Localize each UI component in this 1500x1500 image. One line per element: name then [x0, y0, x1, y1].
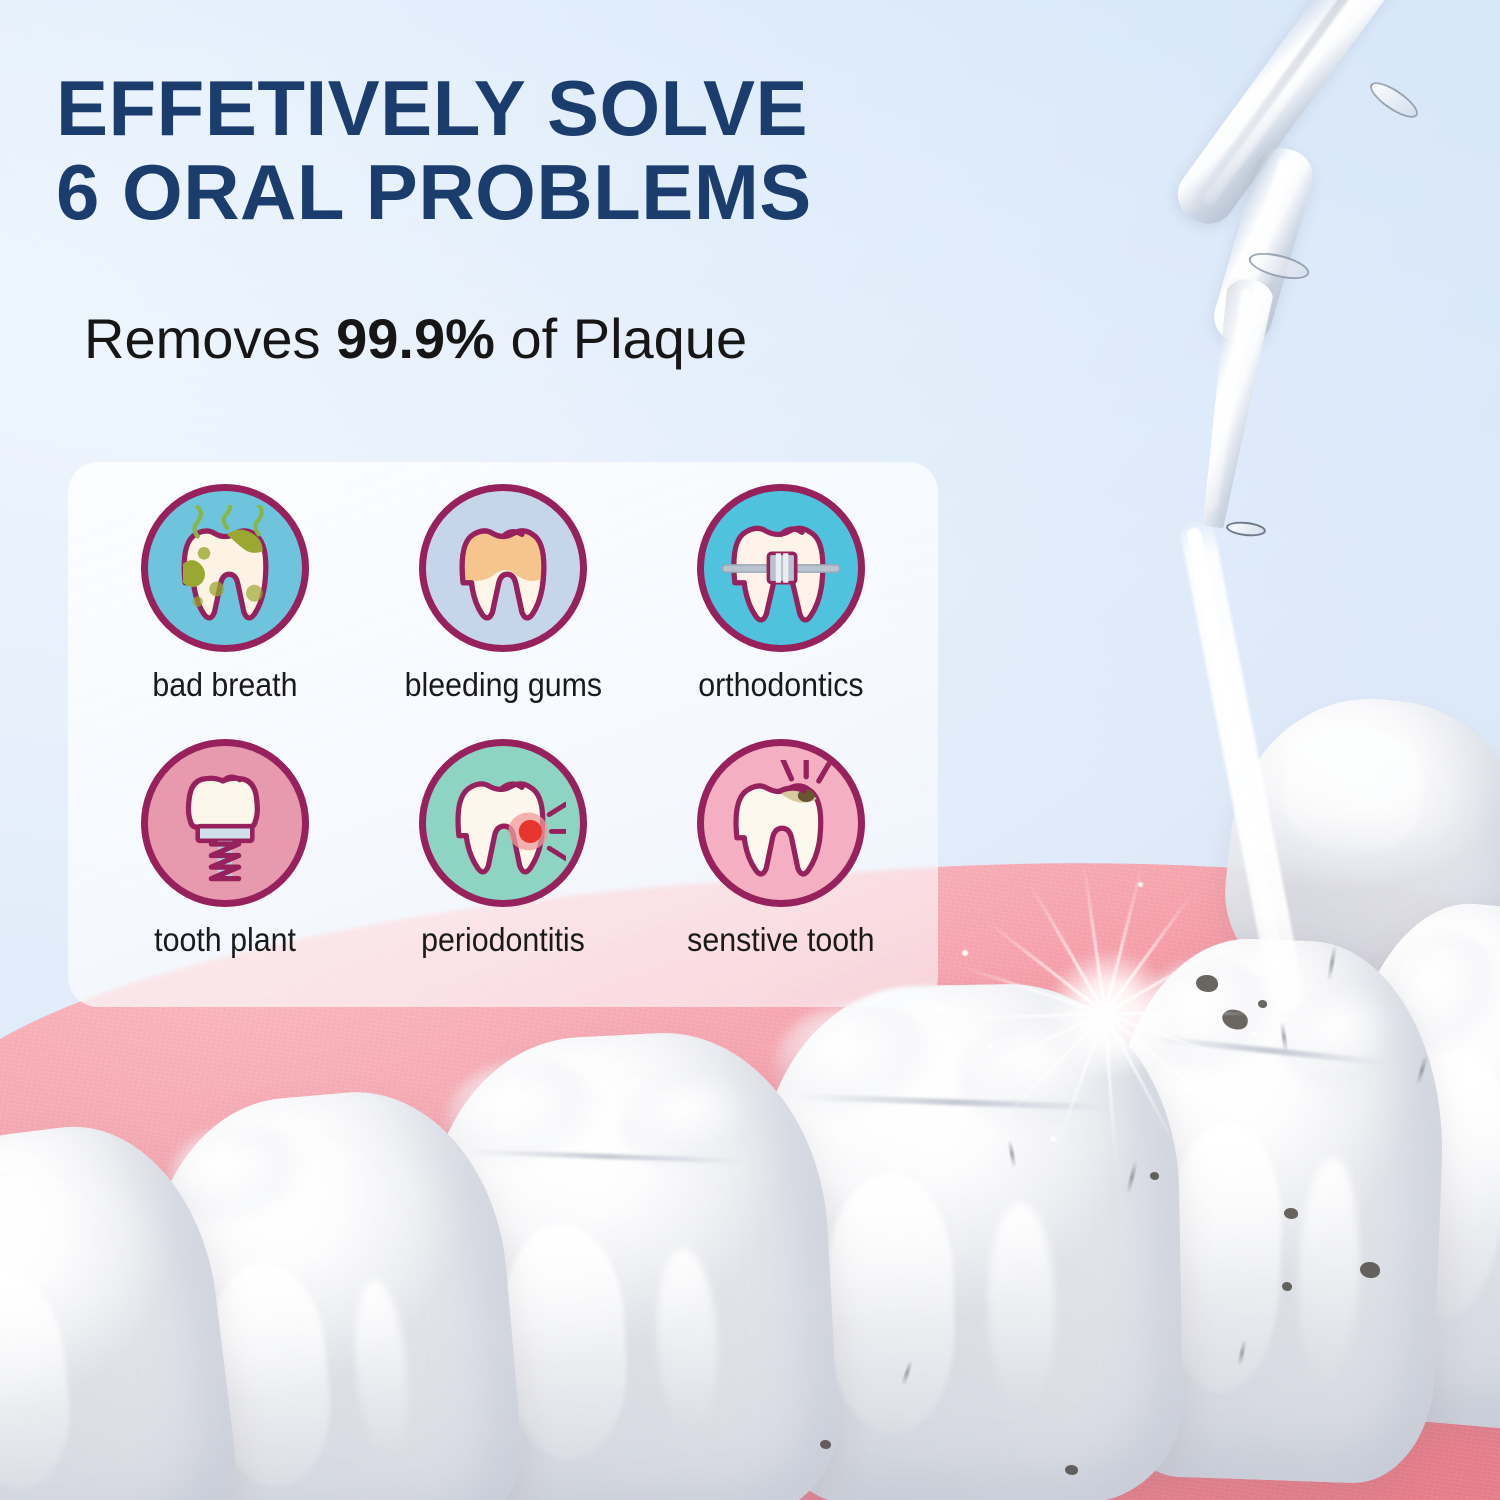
splash-burst: [900, 800, 1320, 1220]
tooth-cavity-icon: [697, 739, 865, 907]
debris-speck: [1065, 1465, 1078, 1475]
splash-droplet: [1186, 1086, 1191, 1091]
problem-label: periodontitis: [421, 921, 585, 959]
problem-item-tooth-plant[interactable]: tooth plant: [86, 739, 364, 994]
problem-item-bleeding-gums[interactable]: bleeding gums: [364, 484, 642, 739]
splash-ray: [1105, 1012, 1255, 1015]
subheadline-prefix: Removes: [84, 307, 336, 370]
problem-label: bad breath: [152, 666, 297, 704]
problem-item-senstive-tooth[interactable]: senstive tooth: [642, 739, 920, 994]
splash-droplet: [1218, 978, 1224, 984]
problem-item-bad-breath[interactable]: bad breath: [86, 484, 364, 739]
subheadline-highlight: 99.9%: [336, 307, 495, 370]
debris-speck: [820, 1440, 831, 1449]
splash-droplet: [988, 1044, 993, 1049]
problem-label: orthodontics: [698, 666, 863, 704]
problem-icons-grid: bad breath bleeding gums: [68, 462, 938, 1007]
problem-item-periodontitis[interactable]: periodontitis: [364, 739, 642, 994]
debris-speck: [1360, 1262, 1380, 1278]
subheadline-suffix: of Plaque: [495, 307, 747, 370]
splash-droplet: [936, 1006, 943, 1013]
nozzle-tip-orifice: [1225, 520, 1266, 538]
splash-droplet: [962, 950, 968, 956]
debris-speck: [1282, 1282, 1292, 1291]
problem-label: bleeding gums: [404, 666, 601, 704]
problem-label: tooth plant: [154, 921, 296, 959]
product-image-canvas: EFFETIVELY SOLVE 6 ORAL PROBLEMS Removes…: [0, 0, 1500, 1500]
splash-droplet: [1050, 1136, 1056, 1142]
headline-line-1: EFFETIVELY SOLVE: [56, 66, 1016, 150]
tooth-braces-icon: [697, 484, 865, 652]
problem-label: senstive tooth: [687, 921, 874, 959]
splash-droplet: [1138, 882, 1143, 887]
subheadline: Removes 99.9% of Plaque: [84, 306, 747, 371]
headline-block: EFFETIVELY SOLVE 6 ORAL PROBLEMS: [56, 66, 1016, 234]
tooth-plaque-odor-icon: [141, 484, 309, 652]
splash-droplet: [1252, 1032, 1257, 1037]
headline-line-2: 6 ORAL PROBLEMS: [56, 150, 1016, 234]
nozzle-ring-upper: [1365, 76, 1423, 124]
tooth-implant-icon: [141, 739, 309, 907]
problem-icons-card: bad breath bleeding gums: [68, 462, 938, 1007]
water-flosser-nozzle: [1130, 0, 1500, 590]
tooth-pain-icon: [419, 739, 587, 907]
tooth-tartar-icon: [419, 484, 587, 652]
problem-item-orthodontics[interactable]: orthodontics: [642, 484, 920, 739]
